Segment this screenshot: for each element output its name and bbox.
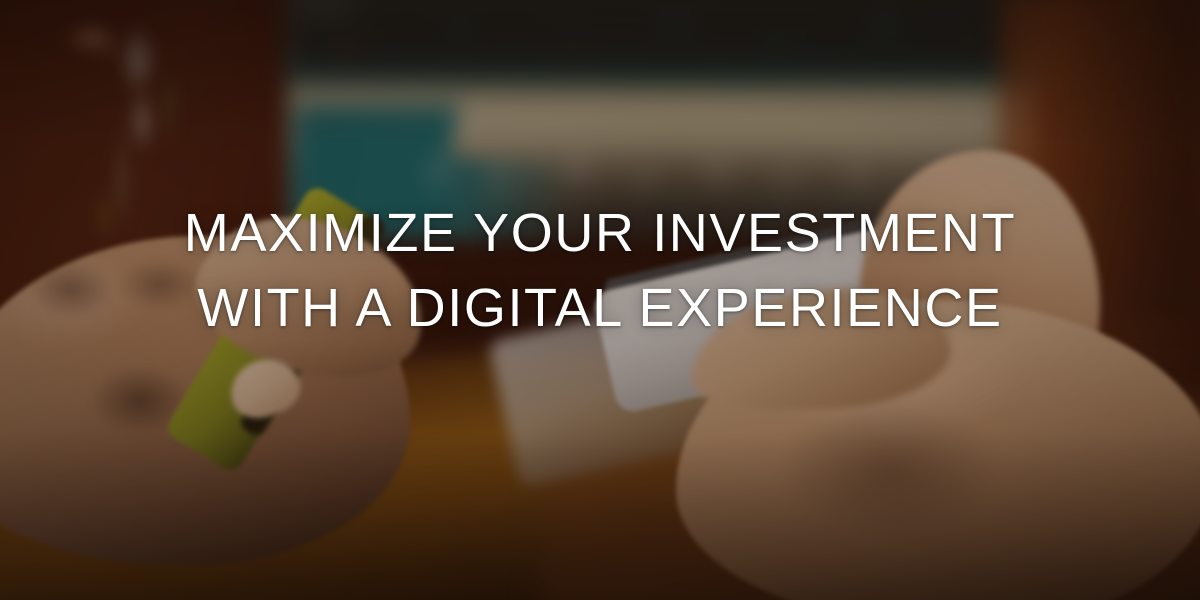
edge-gradient-overlay: [0, 0, 1200, 600]
hero-banner: MAXIMIZE YOUR INVESTMENT WITH A DIGITAL …: [0, 0, 1200, 600]
background-photograph: [0, 0, 1200, 600]
